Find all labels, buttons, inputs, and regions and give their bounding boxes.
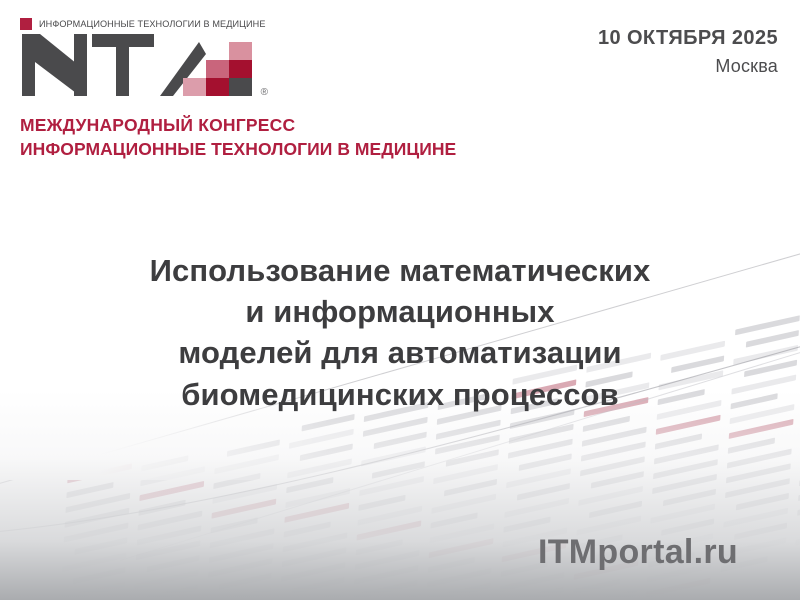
grid-bar [578,486,643,506]
grid-bar [433,464,498,484]
grid-bar [140,466,205,486]
grid-bar [734,523,787,540]
grid-bar [428,557,475,573]
logo-tagline: ИНФОРМАЦИОННЫЕ ТЕХНОЛОГИИ В МЕДИЦИНЕ [20,18,290,30]
grid-bar [435,434,500,454]
grid-bar [723,508,788,528]
grid-bar [361,446,426,466]
grid-lane [121,446,210,600]
grid-bar [141,455,188,471]
grid-bar [145,585,198,600]
grid-bar [519,453,572,470]
grid-bar [287,458,352,478]
itm-logo-block[interactable]: ИНФОРМАЦИОННЫЕ ТЕХНОЛОГИИ В МЕДИЦИНЕ [20,18,290,162]
grid-bar [581,441,646,461]
grid-bar [500,572,565,592]
itm-wordmark-svg [20,32,270,100]
grid-bar [653,459,718,479]
grid-bar [446,449,499,466]
grid-bar [65,508,130,528]
grid-bar [64,523,129,543]
event-date: 10 ОКТЯБРЯ 2025 [598,26,778,50]
grid-bar [60,582,125,600]
grid-bar [503,517,550,533]
grid-bar [214,454,279,474]
grid-bar [284,521,331,537]
itm-wordmark: ® [20,32,270,100]
grid-bar [726,463,791,483]
grid-lane [270,413,359,600]
grid-bar [436,420,501,440]
grid-bar [357,506,422,526]
grid-bar [374,432,427,449]
grid-bar [213,473,260,489]
grid-bar [725,478,790,498]
grid-bar [427,568,492,588]
grid-bar [655,433,702,449]
grid-bar [283,532,348,552]
crimson-square-icon [20,18,32,30]
grid-bar [147,555,200,572]
grid-bar [292,577,345,594]
site-url[interactable]: ITMportal.ru [538,533,738,572]
grid-bar [572,590,637,600]
grid-bar [208,558,273,578]
grid-bar [429,538,494,558]
grid-bar [67,463,132,483]
grid-bar [138,511,203,531]
grid-bar [509,424,574,444]
grid-bar [282,547,347,567]
grid-lane [47,462,136,600]
grid-bar [300,444,353,461]
grid-bar [137,525,202,545]
grid-bar [354,565,419,585]
congress-name: МЕЖДУНАРОДНЫЙ КОНГРЕСС ИНФОРМАЦИОННЫЕ ТЕ… [20,114,290,162]
grid-bar [591,471,644,488]
grid-bar [517,483,570,500]
grid-bar [357,520,422,540]
grid-bar [353,580,418,600]
grid-bar [211,499,276,519]
grid-lane [344,397,433,600]
grid-bar [285,488,350,508]
grid-bar [219,573,272,590]
grid-bar [430,512,477,528]
grid-bar [499,587,564,600]
grid-bar [227,439,280,456]
grid-bar [573,579,620,595]
grid-bar [363,417,428,437]
grid-bar [138,500,185,516]
grid-bar [212,484,277,504]
event-city: Москва [598,56,778,77]
grid-bar [136,540,201,560]
grid-bar [431,494,496,514]
slide-title: Использование математических и информаци… [0,250,800,415]
grid-bar [209,543,274,563]
grid-bar [66,482,113,498]
grid-bar [358,495,405,511]
grid-bar [736,493,789,510]
grid-bar [289,429,354,449]
grid-bar [279,592,344,600]
grid-bar [583,416,630,432]
event-meta: 10 ОКТЯБРЯ 2025 Москва [598,26,778,77]
grid-bar [646,578,711,598]
slide-title-line-2: и информационных [60,291,740,332]
grid-bar [73,567,126,584]
grid-bar [508,439,573,459]
grid-bar [430,523,495,543]
grid-bar [139,481,204,501]
grid-bar [582,427,647,447]
grid-bar [302,414,355,431]
grid-bar [652,474,717,494]
congress-name-line-2: ИНФОРМАЦИОННЫЕ ТЕХНОЛОГИИ В МЕДИЦИНЕ [20,138,290,162]
grid-bar [506,468,571,488]
grid-bar [355,550,420,570]
grid-bar [284,503,349,523]
grid-bar [364,594,417,600]
grid-bar [372,461,425,478]
grid-bar [134,570,199,590]
grid-bar [286,477,333,493]
registered-trademark-icon: ® [261,87,268,98]
presentation-slide: ИНФОРМАЦИОННЫЕ ТЕХНОЛОГИИ В МЕДИЦИНЕ [0,0,800,600]
grid-bar [728,438,775,454]
grid-bar [356,539,403,555]
grid-bar [210,528,275,548]
grid-bar [504,498,569,518]
grid-bar [281,562,346,582]
slide-title-line-3: моделей для автоматизации [60,332,740,373]
grid-bar [795,525,800,545]
grid-bar [74,537,127,554]
grid-bar [62,552,127,572]
grid-bar [426,583,491,600]
grid-bar [65,493,130,513]
grid-bar [359,476,424,496]
grid-bar [580,456,645,476]
grid-bar [211,517,258,533]
grid-bar [656,415,721,435]
slide-title-line-4: биомедицинских процессов [60,374,740,415]
grid-lane [196,430,285,600]
grid-bar [729,419,794,439]
grid-bar [650,504,715,524]
logo-tagline-text: ИНФОРМАЦИОННЫЕ ТЕХНОЛОГИИ В МЕДИЦИНЕ [39,19,266,30]
grid-bar [654,444,719,464]
grid-bar [589,501,642,518]
grid-bar [444,479,497,496]
grid-bar [727,449,792,469]
grid-bar [663,489,716,506]
congress-name-line-1: МЕЖДУНАРОДНЫЙ КОНГРЕСС [20,114,290,138]
grid-bar [206,587,271,600]
slide-title-line-1: Использование математических [60,250,740,291]
